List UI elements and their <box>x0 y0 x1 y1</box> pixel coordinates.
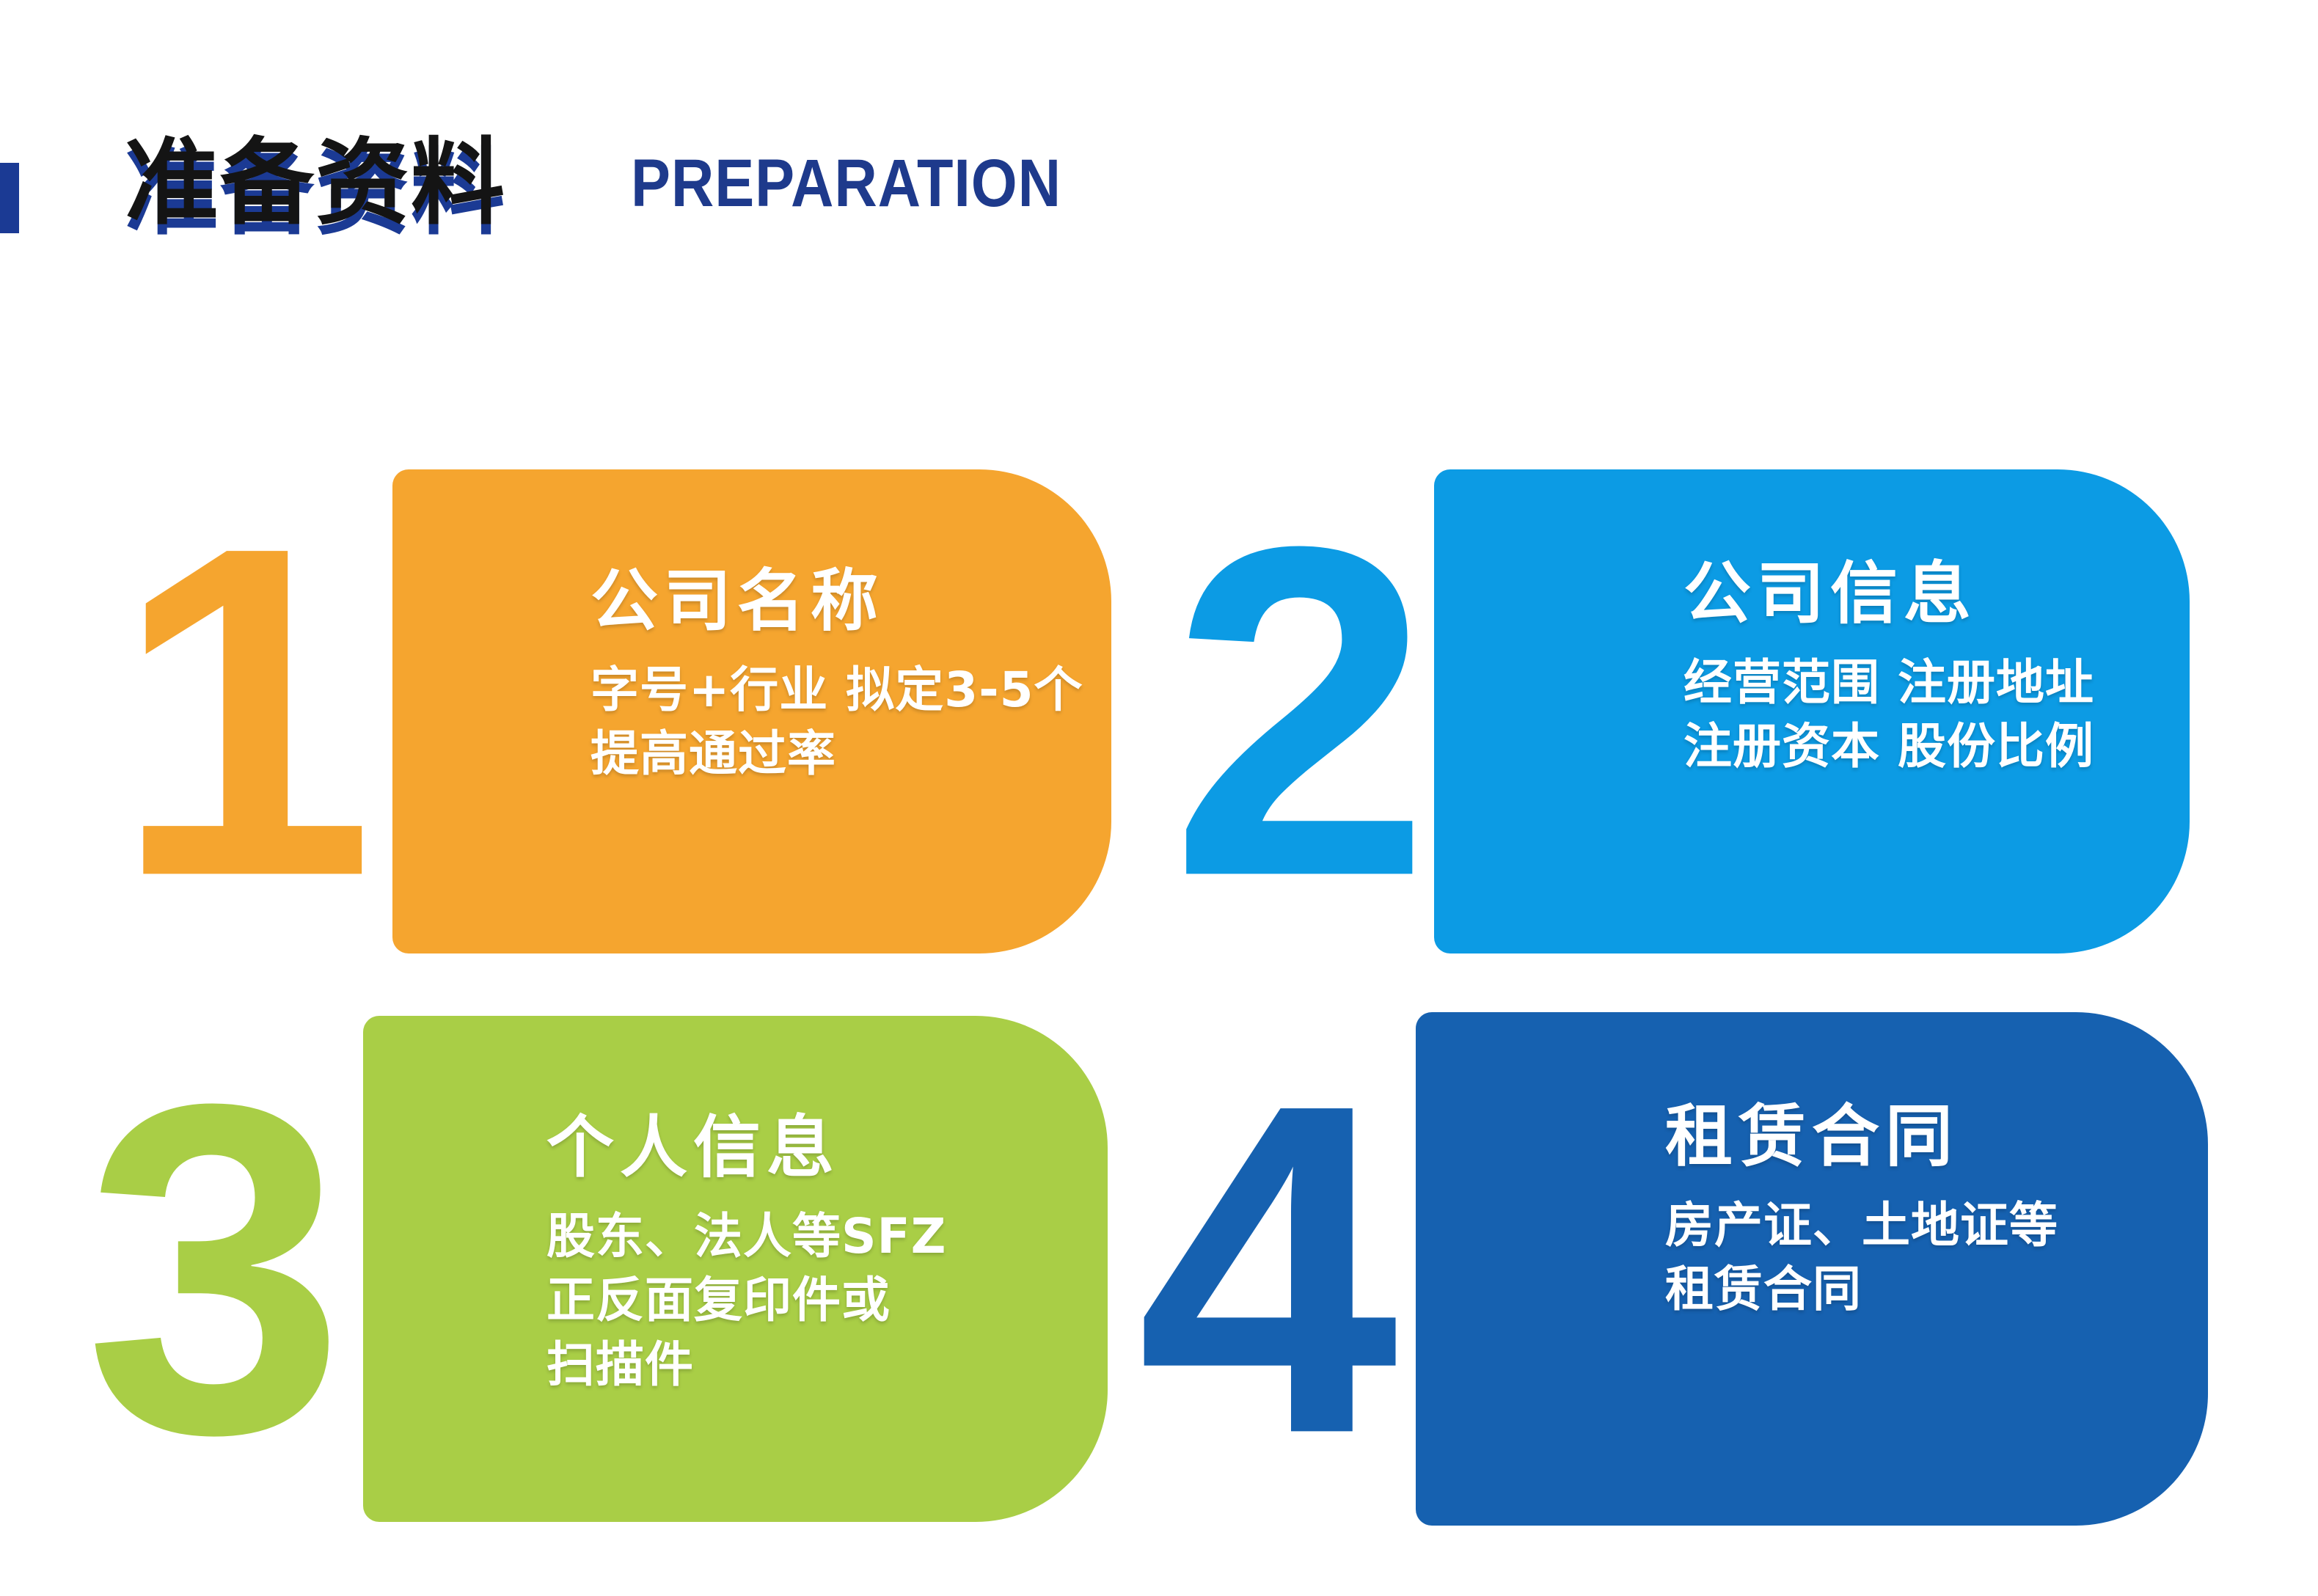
card-company-name[interactable]: 1 公司名称 字号+行业 拟定3-5个 提高通过率 <box>136 469 1111 953</box>
card-body: 经营范围 注册地址 注册资本 股份比例 <box>1683 651 2094 778</box>
page-title: 准备资料 准备资料 <box>125 110 579 257</box>
card-title: 公司信息 <box>1683 557 2094 630</box>
page-title-cn: 准备资料 <box>125 110 506 257</box>
card-body: 房产证、土地证等 租赁合同 <box>1665 1193 2058 1321</box>
card-number-1: 1 <box>114 528 375 894</box>
card-body-line: 经营范围 注册地址 <box>1683 651 2094 714</box>
card-title: 租赁合同 <box>1665 1100 2058 1173</box>
card-body-line: 提高通过率 <box>591 722 1083 786</box>
card-text-block: 个人信息 股东、法人等SFZ 正反面复印件或 扫描件 <box>546 1111 946 1396</box>
card-text-block: 租赁合同 房产证、土地证等 租赁合同 <box>1665 1100 2058 1322</box>
card-number-4: 4 <box>1137 1086 1398 1452</box>
card-number-3: 3 <box>84 1086 345 1452</box>
card-number-2: 2 <box>1170 528 1431 894</box>
card-title: 个人信息 <box>546 1111 946 1184</box>
card-lease-contract[interactable]: 4 租赁合同 房产证、土地证等 租赁合同 <box>1188 1012 2208 1526</box>
page-title-en: PREPARATION <box>631 139 1061 227</box>
header-accent-bar <box>0 163 19 233</box>
page-header: 准备资料 准备资料 PREPARATION <box>0 110 2318 279</box>
card-body-line: 注册资本 股份比例 <box>1683 714 2094 778</box>
card-body-line: 股东、法人等SFZ <box>546 1204 946 1268</box>
card-personal-info[interactable]: 3 个人信息 股东、法人等SFZ 正反面复印件或 扫描件 <box>121 1016 1108 1522</box>
card-body-line: 扫描件 <box>546 1333 946 1396</box>
card-body-line: 房产证、土地证等 <box>1665 1193 2058 1257</box>
card-text-block: 公司名称 字号+行业 拟定3-5个 提高通过率 <box>591 565 1083 786</box>
card-body: 字号+行业 拟定3-5个 提高通过率 <box>591 658 1083 786</box>
card-body-line: 租赁合同 <box>1665 1257 2058 1321</box>
card-company-info[interactable]: 2 公司信息 经营范围 注册地址 注册资本 股份比例 <box>1214 469 2190 953</box>
card-body-line: 字号+行业 拟定3-5个 <box>591 658 1083 722</box>
card-text-block: 公司信息 经营范围 注册地址 注册资本 股份比例 <box>1683 557 2094 779</box>
card-body: 股东、法人等SFZ 正反面复印件或 扫描件 <box>546 1204 946 1396</box>
card-grid: 1 公司名称 字号+行业 拟定3-5个 提高通过率 2 公司信息 经营范围 注册… <box>0 469 2318 1533</box>
card-title: 公司名称 <box>591 565 1083 637</box>
card-body-line: 正反面复印件或 <box>546 1268 946 1332</box>
